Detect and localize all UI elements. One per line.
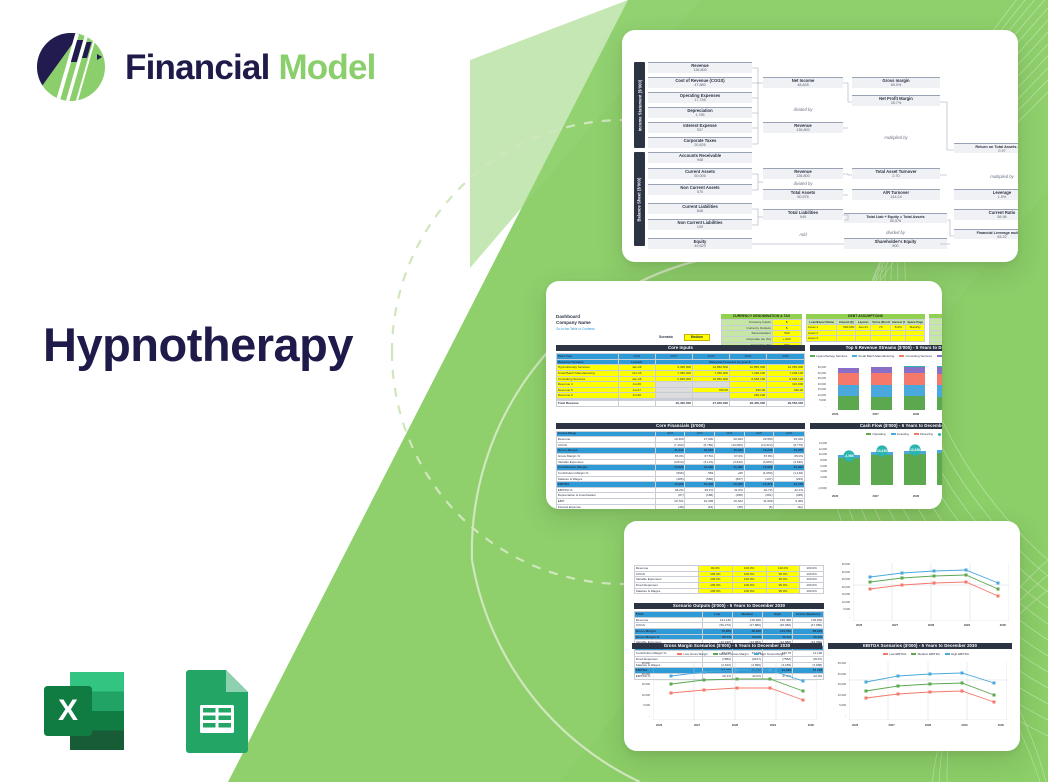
- cash-flow-chart: Operating Investing Financing Net Cash F…: [810, 432, 942, 502]
- table-cell: 29,550: [745, 437, 775, 442]
- table-cell: (10,080): [715, 443, 745, 448]
- table-cell: Contribution Margin: [557, 465, 656, 470]
- table-cell: 150,480: [763, 618, 793, 623]
- dashboard-toc-link[interactable]: Go to the Table of Contents: [556, 327, 595, 331]
- table-cell: (1,130): [774, 471, 804, 476]
- cash-flow-yaxis: 14,000 12,000 10,000 8,000 6,000 4,000 2…: [810, 442, 827, 490]
- table-cell: 39.1%: [685, 488, 715, 493]
- panel-title-scenario-outputs: Scenario Outputs ($'000) - 5 Years to De…: [634, 603, 824, 609]
- svg-text:10,336: 10,336: [910, 448, 920, 452]
- brand-wordmark: Financial Model: [125, 50, 376, 85]
- table-cell: 10,330: [685, 482, 715, 487]
- table-cell: (291): [774, 477, 804, 482]
- slide-canvas: Financial Model Hypnotherapy X: [0, 0, 1048, 782]
- revenue-streams-yaxis: 35,000 30,000 25,000 20,000 15,000 10,00…: [810, 366, 826, 408]
- revenue-streams-xaxis: 2026 2027 2028 2029 2030: [832, 412, 942, 416]
- table-cell: 67.5%: [685, 454, 715, 459]
- brand-name-part1: Financial: [125, 48, 270, 87]
- table-cell: 70.4%: [763, 635, 793, 640]
- node-value: 49,629: [648, 244, 752, 248]
- table-cell: EBIT: [557, 499, 656, 504]
- table-cell: 10,379: [745, 482, 775, 487]
- dashboard-heading: Dashboard: [556, 314, 580, 320]
- table-cell: 38.2%: [656, 488, 686, 493]
- table-cell: 58.7%: [703, 635, 733, 640]
- table-cell: 76,860: [703, 629, 733, 634]
- scenario-label: Scenario: [659, 335, 673, 339]
- pie-bar-chart-logo-icon: [34, 30, 108, 104]
- table-cell: 18,320: [715, 448, 745, 453]
- table-cell: (485): [656, 477, 686, 482]
- table-cell: 569: [685, 471, 715, 476]
- table-cell: (48): [656, 505, 686, 509]
- table-cell: (8,770): [774, 443, 804, 448]
- ebitda-yaxis: 25,000 20,000 15,000 10,000 5,000 -: [828, 662, 846, 718]
- debt-assumptions-table: DEBT ASSUMPTIONS Loan/Export Name Amount…: [806, 314, 925, 342]
- table-cell: 25,030: [774, 437, 804, 442]
- table-cell: (580): [685, 477, 715, 482]
- table-cell: 41.0%: [715, 488, 745, 493]
- google-sheets-icon[interactable]: [168, 662, 264, 758]
- table-cell: 11,090: [685, 465, 715, 470]
- table-cell: Contribution Margin %: [557, 471, 656, 476]
- table-cell: 65.0%: [774, 454, 804, 459]
- svg-text:10,230: 10,230: [877, 449, 887, 453]
- table-cell: 10,335: [715, 482, 745, 487]
- table-cell: 11,480: [715, 465, 745, 470]
- table-cell: 131,130: [703, 618, 733, 623]
- table-cell: +86: [715, 471, 745, 476]
- table-cell: 10,322: [715, 499, 745, 504]
- brand-logo: Financial Model: [34, 30, 376, 104]
- cash-flow-plot: -4,566 10,230 10,336 10,590 8,073: [830, 442, 942, 492]
- table-cell: (3,640): [774, 460, 804, 465]
- table-cell: 11,240: [656, 448, 686, 453]
- table-cell: (837): [715, 477, 745, 482]
- table-cell: (596): [656, 471, 686, 476]
- table-cell: 27,000: [685, 437, 715, 442]
- revenue-streams-chart: Hypnotherapy Services Small Batch Manufa…: [810, 354, 942, 420]
- working-capital-table: WORKING CAPITAL & DEPRECIATION Assumptio…: [929, 314, 942, 348]
- table-cell: Gross Margin %: [557, 454, 656, 459]
- table-cell: 9,302: [774, 499, 804, 504]
- table-cell: 88,920: [793, 629, 823, 634]
- panel-title-ebitda-scenarios: EBITDA Scenarios ($'000) - 5 Years to De…: [828, 643, 1012, 649]
- revenue-streams-plot: [830, 366, 942, 410]
- table-cell: Revenue: [557, 437, 656, 442]
- scenario-top-yaxis: 35,000 30,000 25,000 20,000 15,000 10,00…: [832, 563, 850, 619]
- table-cell: (381): [745, 493, 775, 498]
- table-cell: (38): [715, 505, 745, 509]
- gross-margin-scenarios-chart: Low Gross Margin Medium Gross Margin Hig…: [632, 652, 822, 736]
- table-cell: (1,050): [745, 471, 775, 476]
- table-cell: 10,530: [656, 465, 686, 470]
- table-cell: Variable Expenses: [557, 460, 656, 465]
- dupont-connectors: [634, 62, 1010, 244]
- ebitda-legend: Low EBITDA Medium EBITDA High EBITDA: [846, 652, 1006, 656]
- table-cell: 136,800: [793, 618, 823, 623]
- file-format-icons: X: [36, 662, 264, 758]
- dupont-analysis-card[interactable]: Income Statement ($'000) Balance Sheet (…: [622, 30, 1018, 262]
- table-cell: 16,260: [774, 448, 804, 453]
- table-cell: 104,500: [763, 629, 793, 634]
- dashboard-company-name: Company Name: [556, 320, 591, 326]
- table-cell: (4p): [774, 505, 804, 509]
- node-value: 800: [844, 244, 947, 248]
- panel-title-gross-margin-scenarios: Gross Margin Scenarios ($'000) - 5 Years…: [632, 643, 822, 649]
- panel-title-revenue-streams: Top 5 Revenue Streams ($'000) - 5 Years …: [810, 345, 942, 351]
- table-cell: 10,701: [656, 499, 686, 504]
- table-cell: 136,800: [733, 618, 763, 623]
- table-cell: (495): [774, 493, 804, 498]
- table-cell: 12,600: [745, 465, 775, 470]
- table-cell: COGS: [635, 623, 703, 628]
- ebitda-plot: [849, 662, 1007, 720]
- brand-name-part2: Model: [278, 48, 375, 87]
- table-cell: (3,640): [715, 460, 745, 465]
- gross-margin-xaxis: 2026 2027 2028 2029 2030: [656, 723, 814, 727]
- table-cell: (8,780): [685, 443, 715, 448]
- table-cell: 18,220: [685, 448, 715, 453]
- table-cell: 65.0%: [733, 635, 763, 640]
- table-cell: Revenue: [635, 618, 703, 623]
- scenario-top-chart: 35,000 30,000 25,000 20,000 15,000 10,00…: [832, 561, 1012, 633]
- table-cell: Gross Margin %: [635, 635, 703, 640]
- table-cell: 67.6%: [715, 454, 745, 459]
- table-cell: 11,009: [745, 499, 775, 504]
- table-cell: (10,310): [745, 443, 775, 448]
- table-cell: (6): [745, 505, 775, 509]
- panel-title-cash-flow: Cash Flow ($'000) - 5 Years to December …: [810, 423, 942, 429]
- table-cell: 10,160: [774, 482, 804, 487]
- table-cell: Gross Margin: [557, 448, 656, 453]
- gross-margin-legend: Low Gross Margin Medium Gross Margin Hig…: [648, 652, 814, 656]
- table-cell: (45,980): [763, 623, 793, 628]
- table-cell: (87): [656, 493, 686, 498]
- table-cell: (47,880): [793, 623, 823, 628]
- table-cell: 42.1%: [774, 488, 804, 493]
- table-cell: 65.0%: [656, 454, 686, 459]
- scenario-assumptions-table: Revenue90.0%100.0%110.0%100.0% COGS105.0…: [634, 565, 824, 594]
- table-cell: (44): [685, 505, 715, 509]
- revenue-streams-legend: Hypnotherapy Services Small Batch Manufa…: [810, 354, 942, 358]
- table-cell: EBITDA: [557, 482, 656, 487]
- svg-text:X: X: [58, 694, 78, 727]
- table-cell: 10,258: [656, 482, 686, 487]
- table-cell: 65.0%: [793, 635, 823, 640]
- table-cell: 40.7%: [745, 488, 775, 493]
- table-cell: 19,240: [745, 448, 775, 453]
- panel-title-core-inputs: Core Inputs: [556, 345, 805, 351]
- table-cell: 18,400: [656, 437, 686, 442]
- table-cell: (3,810): [656, 460, 686, 465]
- table-cell: (50,270): [703, 623, 733, 628]
- table-cell: 10,900: [774, 465, 804, 470]
- page-title: Hypnotherapy: [43, 318, 443, 372]
- scenario-top-xaxis: 2026 2027 2028 2029 2030: [856, 623, 1006, 627]
- table-cell: (47,880): [733, 623, 763, 628]
- financial-dashboard-card[interactable]: Dashboard Company Name Go to the Table o…: [546, 281, 942, 509]
- scenario-top-plot: [853, 563, 1009, 621]
- table-cell: EBITDA %: [557, 488, 656, 493]
- currency-denomination-table: CURRENCY DENOMINATION & TAX Currency Inp…: [721, 314, 802, 348]
- panel-title-core-financials: Core Financials ($'000): [556, 423, 805, 429]
- cash-flow-xaxis: 2026 2027 2028 2029 2030: [832, 494, 942, 498]
- table-cell: (298): [715, 493, 745, 498]
- table-row: Interest Expense(48)(44)(38)(6)(4p): [557, 505, 804, 509]
- cash-flow-legend: Operating Investing Financing Net Cash F…: [824, 432, 942, 436]
- table-cell: Interest Expense: [557, 505, 656, 509]
- svg-text:-4,566: -4,566: [844, 454, 853, 458]
- table-cell: (3,170): [685, 460, 715, 465]
- gross-margin-plot: [653, 662, 817, 720]
- table-cell: 10,395: [685, 499, 715, 504]
- table-cell: Depreciation & Amortisation: [557, 493, 656, 498]
- core-inputs-table: Start Year 2026 2027 2028 2029 2030 Reve…: [556, 353, 805, 407]
- table-cell: Salaries & Wages: [557, 477, 656, 482]
- microsoft-excel-icon[interactable]: X: [36, 662, 132, 758]
- table-cell: Gross Margin: [635, 629, 703, 634]
- ebitda-scenarios-chart: Low EBITDA Medium EBITDA High EBITDA 25,…: [828, 652, 1012, 736]
- table-cell: 28,400: [715, 437, 745, 442]
- table-cell: (3,980): [745, 460, 775, 465]
- scenario-analysis-card[interactable]: Revenue90.0%100.0%110.0%100.0% COGS105.0…: [624, 521, 1020, 751]
- table-cell: (7,160): [656, 443, 686, 448]
- table-cell: (107): [745, 477, 775, 482]
- table-cell: COGS: [557, 443, 656, 448]
- dupont-tree: Income Statement ($'000) Balance Sheet (…: [634, 62, 1010, 244]
- scenario-value-dropdown[interactable]: Medium: [684, 334, 710, 341]
- table-cell: (188): [685, 493, 715, 498]
- ebitda-xaxis: 2026 2027 2028 2029 2030: [852, 723, 1004, 727]
- table-cell: 88,920: [733, 629, 763, 634]
- table-cell: 67.8%: [745, 454, 775, 459]
- core-financials-table: Income Range 2026 2027 2028 2029 2030 Re…: [556, 431, 805, 509]
- gross-margin-yaxis: 25,000 20,000 15,000 10,000 5,000 -: [632, 662, 650, 718]
